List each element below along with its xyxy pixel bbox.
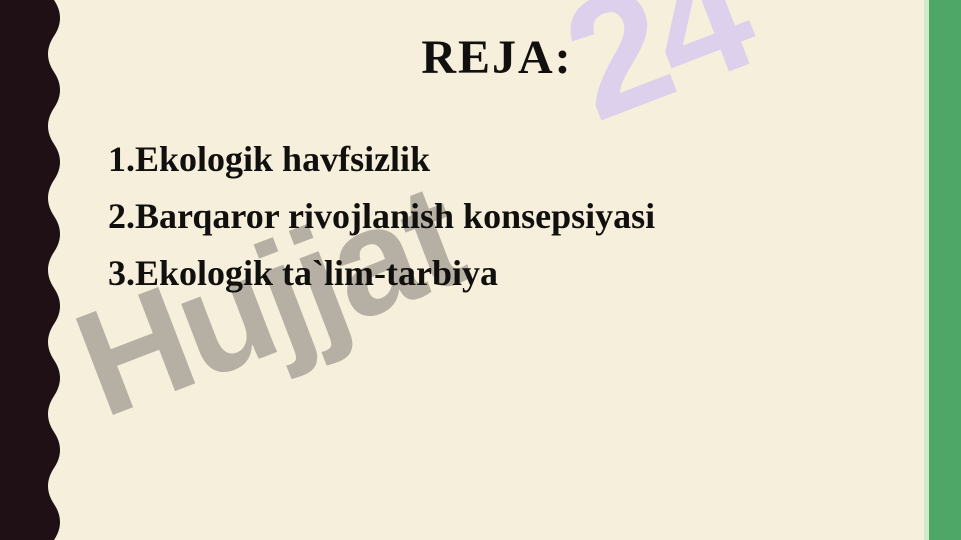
slide-content: REJA: 1.Ekologik havfsizlik 2.Barqaror r…	[0, 0, 961, 540]
page-title: REJA:	[70, 30, 924, 85]
presentation-slide: 24 Hujjat REJA: 1.Ekologik havfsizlik 2.…	[0, 0, 961, 540]
agenda-list: 1.Ekologik havfsizlik 2.Barqaror rivojla…	[108, 131, 911, 302]
list-item: 1.Ekologik havfsizlik	[108, 131, 911, 188]
list-item: 3.Ekologik ta`lim-tarbiya	[108, 245, 911, 302]
list-item: 2.Barqaror rivojlanish konsepsiyasi	[108, 188, 911, 245]
